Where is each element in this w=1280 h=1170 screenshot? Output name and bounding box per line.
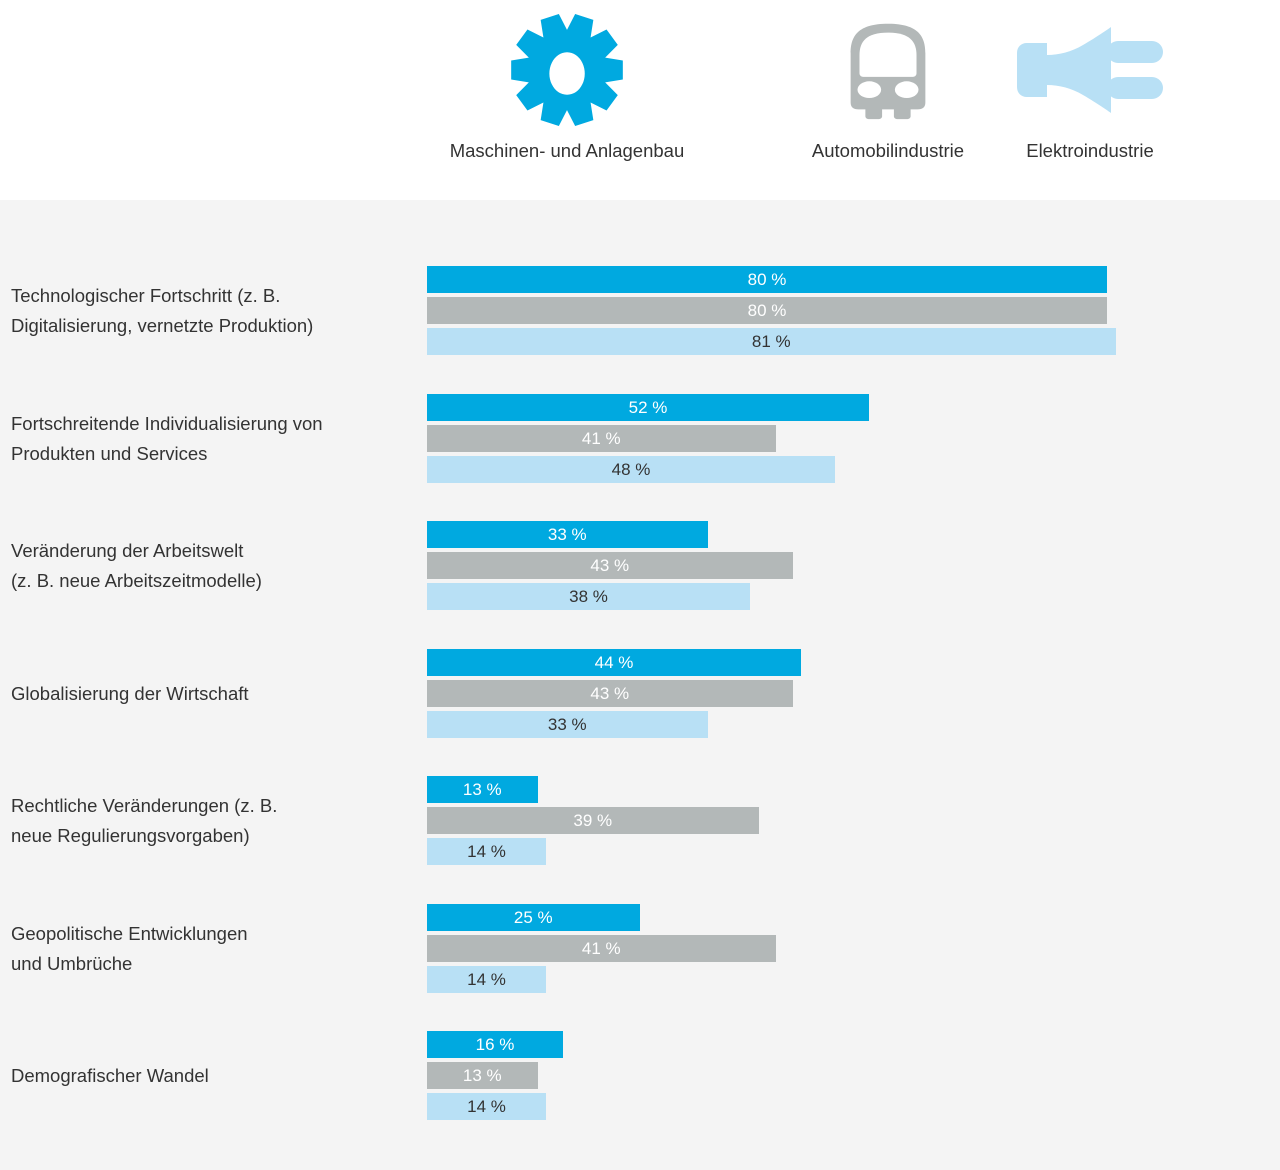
category-label: Fortschreitende Individualisierung vonPr… (11, 409, 411, 469)
bar-group: Veränderung der Arbeitswelt(z. B. neue A… (0, 521, 1280, 610)
bar-value-label: 33 % (548, 526, 587, 543)
bar-stack: 33 %43 %38 % (427, 521, 793, 610)
bar-1: 13 % (427, 776, 538, 803)
power-plug-icon (1015, 0, 1165, 140)
bar-value-label: 80 % (748, 271, 787, 288)
bar-2: 39 % (427, 807, 759, 834)
bar-value-label: 39 % (573, 812, 612, 829)
bar-value-label: 33 % (548, 716, 587, 733)
bar-group: Technologischer Fortschritt (z. B.Digita… (0, 266, 1280, 355)
bar-stack: 13 %39 %14 % (427, 776, 759, 865)
bar-2: 80 % (427, 297, 1107, 324)
bar-3: 33 % (427, 711, 708, 738)
bar-2: 43 % (427, 552, 793, 579)
category-label: Rechtliche Veränderungen (z. B.neue Regu… (11, 791, 411, 851)
bar-group: Globalisierung der Wirtschaft44 %43 %33 … (0, 649, 1280, 738)
bar-value-label: 41 % (582, 940, 621, 957)
category-label: Veränderung der Arbeitswelt(z. B. neue A… (11, 536, 411, 596)
bar-value-label: 44 % (595, 654, 634, 671)
bar-1: 52 % (427, 394, 869, 421)
category-label-line: Rechtliche Veränderungen (z. B. (11, 791, 411, 821)
bar-value-label: 52 % (629, 399, 668, 416)
legend-label: Elektroindustrie (1026, 140, 1154, 162)
bar-value-label: 81 % (752, 333, 791, 350)
bar-2: 41 % (427, 425, 776, 452)
category-label: Geopolitische Entwicklungenund Umbrüche (11, 919, 411, 979)
bar-value-label: 14 % (467, 1098, 506, 1115)
bar-3: 14 % (427, 838, 546, 865)
category-label-line: Digitalisierung, vernetzte Produktion) (11, 311, 411, 341)
bar-value-label: 25 % (514, 909, 553, 926)
bar-3: 14 % (427, 1093, 546, 1120)
bar-2: 13 % (427, 1062, 538, 1089)
category-label-line: Veränderung der Arbeitswelt (11, 536, 411, 566)
legend: Maschinen- und AnlagenbauAutomobilindust… (0, 0, 1280, 200)
category-label-line: Fortschreitende Individualisierung von (11, 409, 411, 439)
bar-stack: 80 %80 %81 % (427, 266, 1116, 355)
bar-3: 14 % (427, 966, 546, 993)
gear-icon (508, 0, 626, 140)
bar-value-label: 14 % (467, 971, 506, 988)
legend-label: Maschinen- und Anlagenbau (450, 140, 685, 162)
category-label-line: Demografischer Wandel (11, 1061, 411, 1091)
category-label-line: Produkten und Services (11, 439, 411, 469)
bar-1: 80 % (427, 266, 1107, 293)
bar-group: Rechtliche Veränderungen (z. B.neue Regu… (0, 776, 1280, 865)
bar-group: Fortschreitende Individualisierung vonPr… (0, 394, 1280, 483)
bar-value-label: 14 % (467, 843, 506, 860)
bar-stack: 52 %41 %48 % (427, 394, 869, 483)
category-label-line: und Umbrüche (11, 949, 411, 979)
bar-1: 44 % (427, 649, 801, 676)
category-label-line: (z. B. neue Arbeitszeitmodelle) (11, 566, 411, 596)
category-label: Demografischer Wandel (11, 1061, 411, 1091)
bar-value-label: 43 % (590, 685, 629, 702)
bar-3: 48 % (427, 456, 835, 483)
bar-stack: 25 %41 %14 % (427, 904, 776, 993)
bar-1: 16 % (427, 1031, 563, 1058)
category-label: Globalisierung der Wirtschaft (11, 679, 411, 709)
bar-value-label: 48 % (612, 461, 651, 478)
chart-plot-area: Technologischer Fortschritt (z. B.Digita… (0, 200, 1280, 1170)
category-label-line: Technologischer Fortschritt (z. B. (11, 281, 411, 311)
category-label-line: Globalisierung der Wirtschaft (11, 679, 411, 709)
bar-stack: 44 %43 %33 % (427, 649, 801, 738)
bar-group: Geopolitische Entwicklungenund Umbrüche2… (0, 904, 1280, 993)
bar-value-label: 43 % (590, 557, 629, 574)
legend-item-3: Elektroindustrie (900, 0, 1280, 200)
bar-stack: 16 %13 %14 % (427, 1031, 563, 1120)
bar-3: 38 % (427, 583, 750, 610)
category-label-line: neue Regulierungsvorgaben) (11, 821, 411, 851)
bar-2: 41 % (427, 935, 776, 962)
bar-2: 43 % (427, 680, 793, 707)
bar-value-label: 80 % (748, 302, 787, 319)
category-label: Technologischer Fortschritt (z. B.Digita… (11, 281, 411, 341)
bar-1: 25 % (427, 904, 640, 931)
bar-3: 81 % (427, 328, 1116, 355)
bar-value-label: 13 % (463, 1067, 502, 1084)
bar-value-label: 38 % (569, 588, 608, 605)
bar-1: 33 % (427, 521, 708, 548)
bar-group: Demografischer Wandel16 %13 %14 % (0, 1031, 1280, 1120)
bar-value-label: 16 % (476, 1036, 515, 1053)
category-label-line: Geopolitische Entwicklungen (11, 919, 411, 949)
bar-value-label: 41 % (582, 430, 621, 447)
bar-value-label: 13 % (463, 781, 502, 798)
